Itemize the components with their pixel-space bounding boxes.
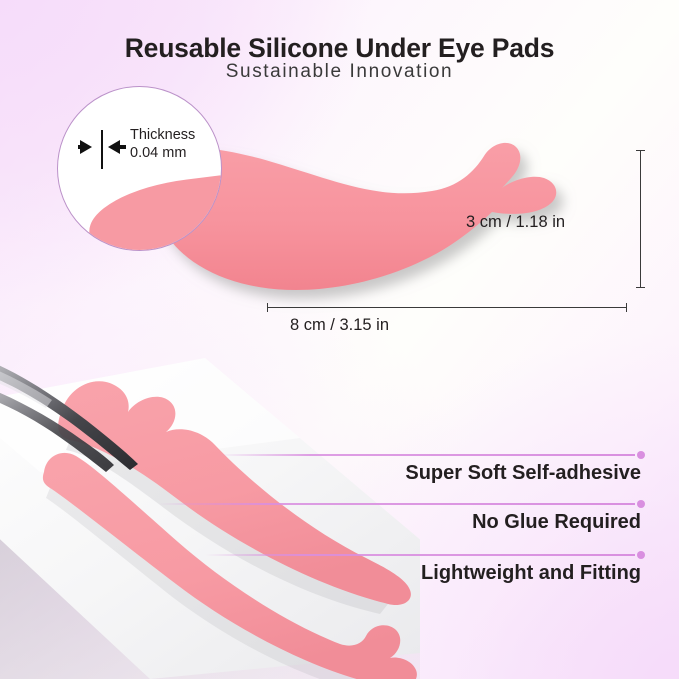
feature-label-3: Lightweight and Fitting [421,562,641,585]
feature-label-1: Super Soft Self-adhesive [405,462,641,485]
width-dimension-label: 8 cm / 3.15 in [0,316,679,335]
page-subtitle: Sustainable Innovation [0,61,679,83]
feature-line-2-bar [158,503,635,505]
thickness-label: Thickness 0.04 mm [130,127,195,162]
feature-label-2: No Glue Required [472,511,641,534]
feature-line-2-dot [637,500,645,508]
page-title: Reusable Silicone Under Eye Pads [0,33,679,64]
feature-line-2 [158,503,641,505]
feature-line-1-bar [218,454,635,456]
thickness-arrow-stem-right [120,145,126,149]
magnified-pad-edge [84,166,222,251]
feature-line-3-dot [637,551,645,559]
arrow-left-pointing-icon [108,140,120,154]
infographic-canvas: Reusable Silicone Under Eye Pads Sustain… [0,0,679,679]
thickness-label-title: Thickness [130,127,195,145]
height-dimension-label: 3 cm / 1.18 in [466,213,565,232]
arrow-right-pointing-icon [80,140,92,154]
product-photo [0,352,420,679]
thickness-label-value: 0.04 mm [130,145,195,163]
product-photo-svg [0,352,420,679]
thickness-indicator: Thickness 0.04 mm [78,127,218,173]
thickness-measure-bar [101,130,103,169]
thickness-magnifier-circle: Thickness 0.04 mm [57,86,222,251]
feature-line-1 [218,454,641,456]
feature-line-3-bar [205,554,635,556]
width-dimension-line [267,307,627,308]
feature-line-3 [205,554,641,556]
height-dimension-line [640,150,641,288]
feature-line-1-dot [637,451,645,459]
